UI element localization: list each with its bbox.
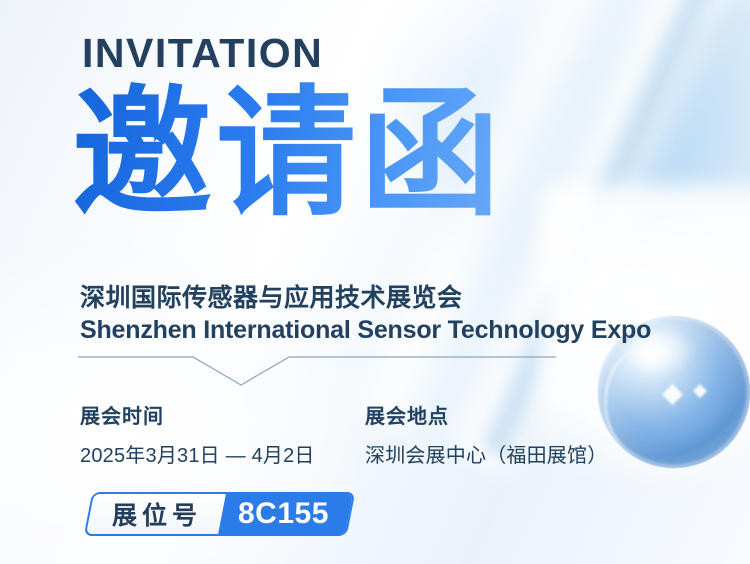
subtitle-chinese: 深圳国际传感器与应用技术展览会 — [80, 278, 463, 314]
invitation-poster: INVITATION 邀请函 深圳国际传感器与应用技术展览会 Shenzhen … — [0, 0, 750, 564]
subtitle-english: Shenzhen International Sensor Technology… — [80, 316, 651, 345]
event-venue-value: 深圳会展中心（福田展馆） — [365, 439, 607, 468]
event-date-value: 2025年3月31日 — 4月2日 — [80, 439, 315, 468]
booth-label: 展位号 — [90, 494, 222, 534]
event-date-label: 展会时间 — [80, 400, 315, 429]
kicker-invitation: INVITATION — [82, 33, 323, 74]
poster-content: INVITATION 邀请函 深圳国际传感器与应用技术展览会 Shenzhen … — [0, 0, 750, 564]
event-date-block: 展会时间 2025年3月31日 — 4月2日 — [80, 400, 315, 468]
event-venue-block: 展会地点 深圳会展中心（福田展馆） — [365, 400, 607, 468]
page-title: 邀请函 — [72, 76, 504, 233]
divider-icon — [78, 352, 556, 388]
event-venue-label: 展会地点 — [365, 400, 607, 429]
booth-number-text: 8C155 — [238, 497, 329, 531]
divider-with-notch — [78, 352, 556, 388]
booth-number-badge: 展位号 8C155 — [84, 492, 355, 536]
booth-number: 8C155 — [218, 494, 353, 534]
